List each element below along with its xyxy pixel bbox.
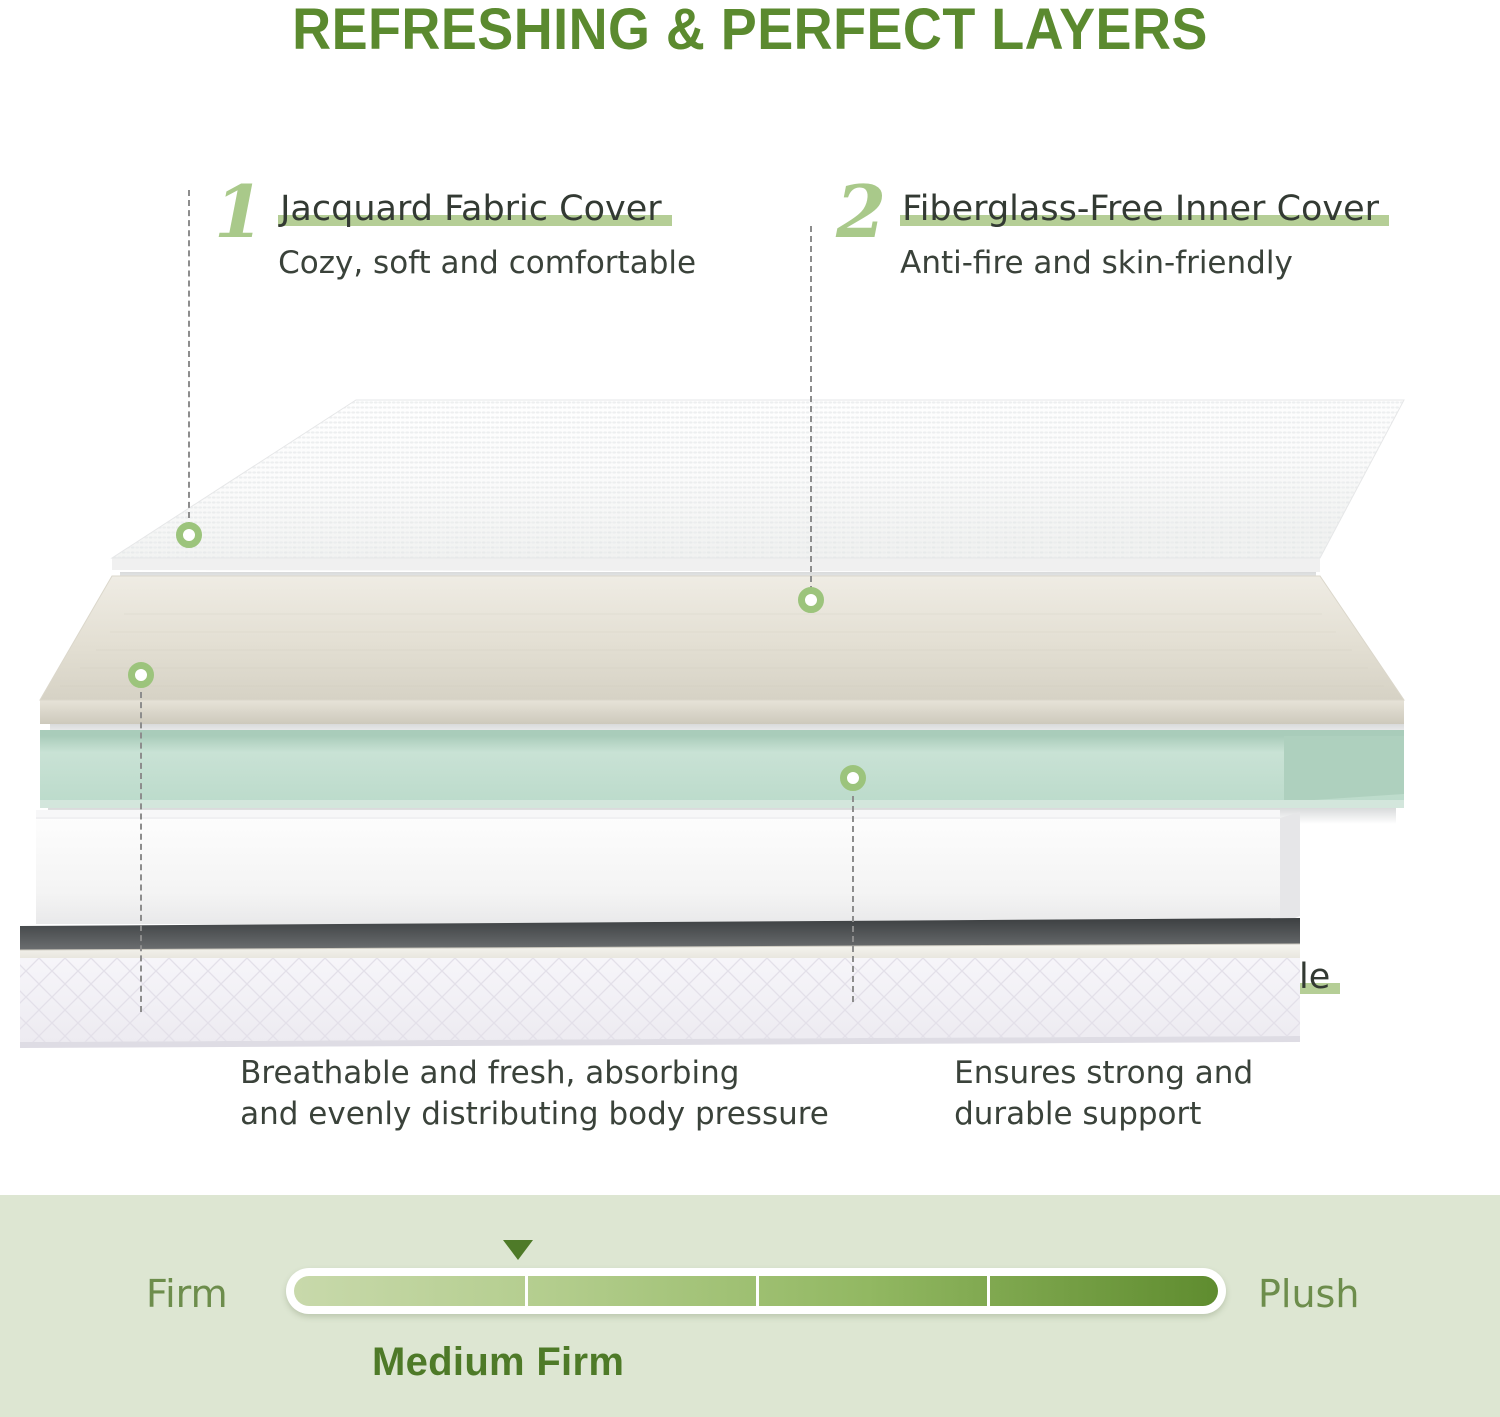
support-strip xyxy=(20,918,1300,960)
layer-marker-ring-3 xyxy=(128,662,154,688)
mattress-base-cover xyxy=(0,958,1500,1078)
callout-description-2: Anti-fire and skin-friendly xyxy=(900,243,1381,283)
layer-green-tea-gel-memory-foam xyxy=(40,648,1404,824)
layer-marker-ring-4 xyxy=(840,765,866,791)
callout-description-1: Cozy, soft and comfortable xyxy=(278,243,696,283)
callout-layer-1: 1 Jacquard Fabric Cover Cozy, soft and c… xyxy=(214,182,696,283)
layer-marker-ring-1 xyxy=(176,522,202,548)
firmness-left-label: Firm xyxy=(146,1272,228,1316)
layer-jacquard-fabric-cover xyxy=(112,400,1404,588)
callout-description-4-line2: durable support xyxy=(954,1094,1332,1134)
firmness-selected-label: Medium Firm xyxy=(372,1340,624,1385)
layer-marker-ring-2 xyxy=(798,587,824,613)
mattress-layers-illustration xyxy=(0,380,1500,960)
firmness-segment xyxy=(987,1276,1218,1306)
firmness-right-label: Plush xyxy=(1258,1272,1359,1316)
callout-number-2: 2 xyxy=(836,182,886,241)
firmness-marker-triangle-icon xyxy=(503,1240,533,1260)
leader-line-1 xyxy=(188,190,190,528)
firmness-segment xyxy=(294,1276,525,1306)
firmness-scale-gradient xyxy=(294,1276,1218,1306)
callout-title-2: Fiberglass-Free Inner Cover xyxy=(900,188,1381,231)
layer-high-density-base-foam xyxy=(36,810,1300,924)
leader-line-2 xyxy=(810,226,812,592)
callout-title-1: Jacquard Fabric Cover xyxy=(278,188,664,231)
callout-number-1: 1 xyxy=(214,182,264,241)
page-title: REFRESHING & PERFECT LAYERS xyxy=(53,0,1448,63)
firmness-scale-track[interactable] xyxy=(286,1268,1226,1314)
leader-line-3 xyxy=(140,692,142,1012)
firmness-segment xyxy=(756,1276,987,1306)
leader-line-4 xyxy=(852,796,854,1002)
firmness-segment xyxy=(525,1276,756,1306)
callout-description-3-line2: and evenly distributing body pressure xyxy=(240,1094,829,1134)
callout-layer-2: 2 Fiberglass-Free Inner Cover Anti-fire … xyxy=(836,182,1381,283)
